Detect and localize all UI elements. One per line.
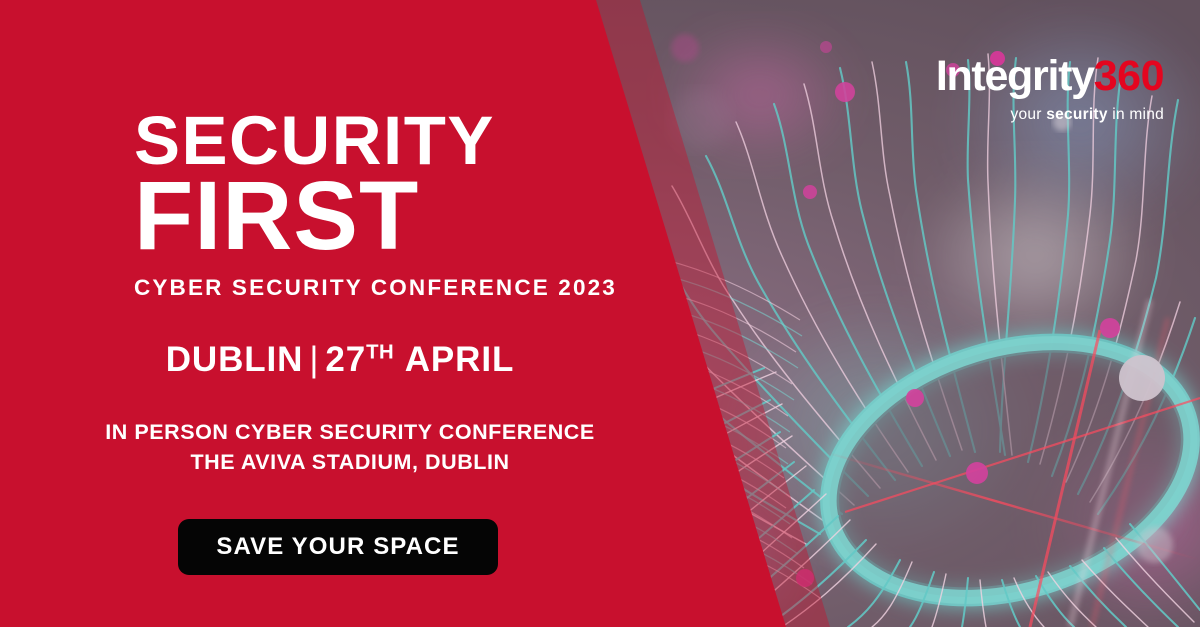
tagline-emphasis: security bbox=[1046, 106, 1107, 123]
headline-line-2: FIRST bbox=[134, 170, 617, 262]
event-date-line: DUBLIN|27TH APRIL bbox=[0, 340, 680, 380]
logo-magenta-dot-icon bbox=[990, 51, 1005, 66]
event-day-ordinal: TH bbox=[366, 341, 394, 363]
event-promo-banner: SECURITY FIRST CYBER SECURITY CONFERENCE… bbox=[0, 0, 1200, 627]
venue-block: IN PERSON CYBER SECURITY CONFERENCE THE … bbox=[0, 418, 700, 477]
logo-name-secondary: 360 bbox=[1094, 52, 1164, 100]
save-your-space-button[interactable]: SAVE YOUR SPACE bbox=[178, 519, 498, 575]
tagline-pre: your bbox=[1011, 106, 1047, 123]
cta-label: SAVE YOUR SPACE bbox=[216, 533, 459, 561]
headline-subtitle: CYBER SECURITY CONFERENCE 2023 bbox=[134, 275, 617, 301]
event-day: 27 bbox=[325, 340, 366, 379]
venue-line-2: THE AVIVA STADIUM, DUBLIN bbox=[0, 448, 700, 478]
event-month: APRIL bbox=[405, 340, 515, 379]
integrity360-logo[interactable]: Integrity 360 your security in mind bbox=[936, 55, 1164, 123]
date-separator: | bbox=[303, 340, 325, 379]
tagline-post: in mind bbox=[1108, 106, 1164, 123]
venue-line-1: IN PERSON CYBER SECURITY CONFERENCE bbox=[0, 418, 700, 448]
logo-wordmark: Integrity 360 bbox=[936, 55, 1164, 98]
logo-name-primary: Integrity bbox=[936, 52, 1094, 100]
headline-block: SECURITY FIRST CYBER SECURITY CONFERENCE… bbox=[134, 108, 617, 301]
logo-tagline: your security in mind bbox=[936, 107, 1164, 123]
event-city: DUBLIN bbox=[166, 340, 304, 379]
